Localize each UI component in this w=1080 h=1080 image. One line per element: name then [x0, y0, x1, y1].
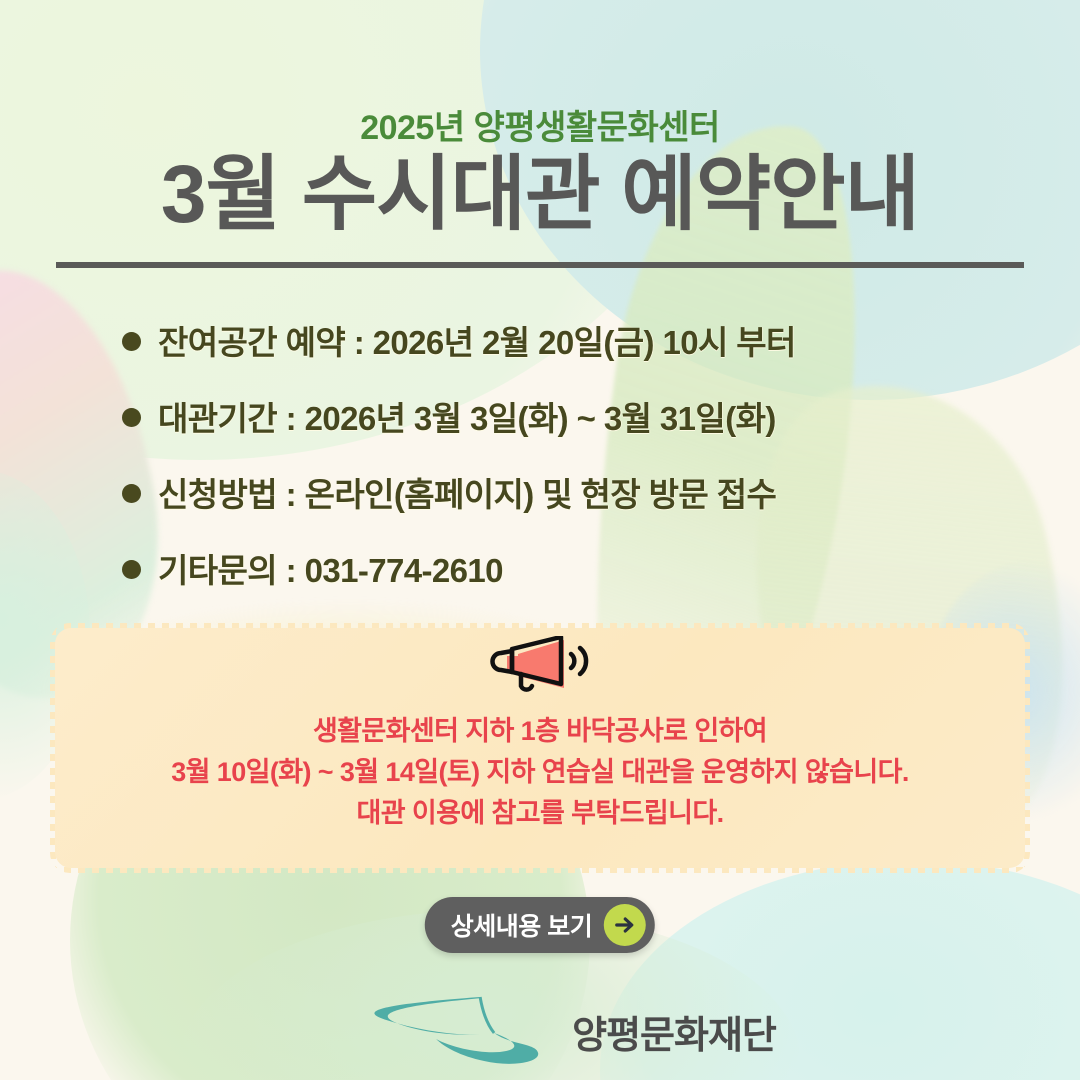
poster-headline: 3월 수시대관 예약안내	[0, 152, 1080, 238]
view-details-button[interactable]: 상세내용 보기	[425, 897, 655, 953]
arrow-right-icon	[604, 904, 646, 946]
notice-text-block: 생활문화센터 지하 1층 바닥공사로 인하여 3월 10일(화) ~ 3월 14…	[171, 711, 909, 834]
list-item: 기타문의 : 031-774-2610	[0, 530, 1080, 606]
list-item-label: 신청방법 : 온라인(홈페이지) 및 현장 방문 접수	[158, 468, 776, 516]
megaphone-icon	[488, 636, 592, 703]
notice-line: 대관 이용에 참고를 부탁드립니다.	[171, 793, 909, 834]
yangpyeong-foundation-logo-icon	[304, 989, 554, 1074]
bullet-dot-icon	[122, 332, 141, 351]
bullet-dot-icon	[122, 560, 141, 579]
poster-canvas: 2025년 양평생활문화센터 3월 수시대관 예약안내 잔여공간 예약 : 20…	[0, 0, 1080, 1080]
list-item-label: 잔여공간 예약 : 2026년 2월 20일(금) 10시 부터	[158, 316, 796, 364]
list-item: 잔여공간 예약 : 2026년 2월 20일(금) 10시 부터	[0, 302, 1080, 378]
poster-eyebrow: 2025년 양평생활문화센터	[0, 100, 1080, 149]
list-item-label: 기타문의 : 031-774-2610	[158, 544, 503, 592]
notice-box: 생활문화센터 지하 1층 바닥공사로 인하여 3월 10일(화) ~ 3월 14…	[55, 628, 1025, 868]
foundation-name: 양평문화재단	[572, 1004, 776, 1059]
notice-line: 3월 10일(화) ~ 3월 14일(토) 지하 연습실 대관을 운영하지 않습…	[171, 752, 909, 793]
bullet-dot-icon	[122, 408, 141, 427]
list-item-label: 대관기간 : 2026년 3월 3일(화) ~ 3월 31일(화)	[158, 392, 776, 440]
view-details-label: 상세내용 보기	[451, 907, 592, 943]
bullet-dot-icon	[122, 484, 141, 503]
list-item: 대관기간 : 2026년 3월 3일(화) ~ 3월 31일(화)	[0, 378, 1080, 454]
footer-logo: 양평문화재단	[304, 989, 776, 1074]
header-divider	[56, 262, 1024, 268]
info-bullet-list: 잔여공간 예약 : 2026년 2월 20일(금) 10시 부터 대관기간 : …	[0, 302, 1080, 606]
notice-line: 생활문화센터 지하 1층 바닥공사로 인하여	[171, 711, 909, 752]
list-item: 신청방법 : 온라인(홈페이지) 및 현장 방문 접수	[0, 454, 1080, 530]
